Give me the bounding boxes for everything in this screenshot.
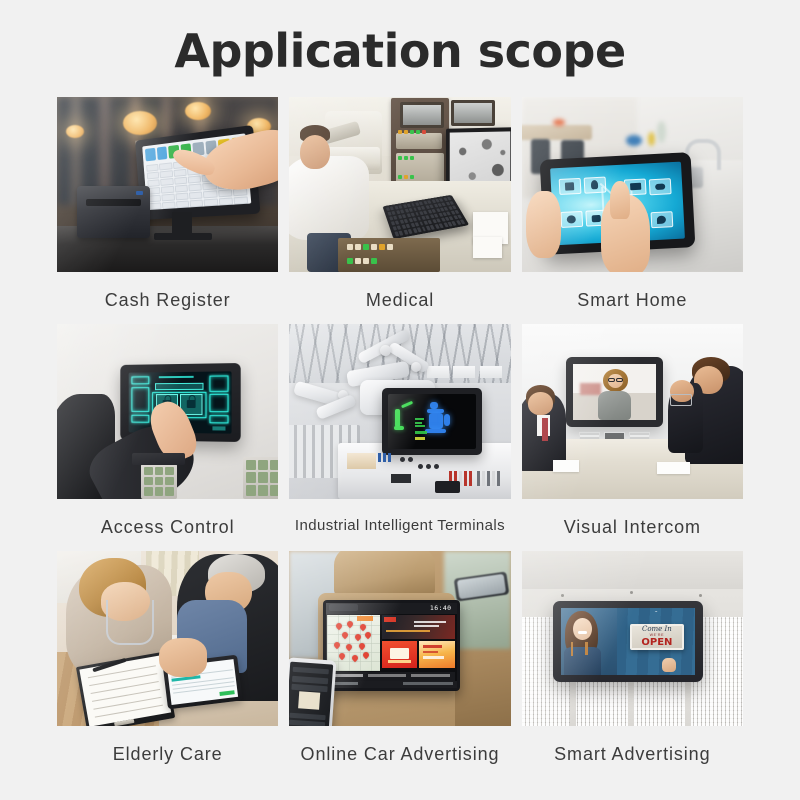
caption-elderly-care: Elderly Care [113,726,223,775]
caption-industrial: Industrial Intelligent Terminals [295,499,505,544]
sign-line-1: Come In [642,626,672,633]
elderly-care-image [57,551,278,726]
caption-cash-register: Cash Register [105,272,231,321]
application-scope-grid: Cash Register [57,97,743,775]
caption-online-car-advertising: Online Car Advertising [301,726,500,775]
shop-open-sign: Come In WE'RE OPEN [630,624,685,649]
scope-card-visual-intercom[interactable]: Visual Intercom [522,324,743,548]
cash-register-image [57,97,278,272]
medical-image [289,97,510,272]
smart-home-image [522,97,743,272]
sign-line-3: OPEN [641,638,672,648]
scope-card-elderly-care[interactable]: Elderly Care [57,551,278,775]
visual-intercom-image [522,324,743,499]
scope-card-access-control[interactable]: Access Control [57,324,278,548]
caption-visual-intercom: Visual Intercom [564,499,701,548]
access-control-image [57,324,278,499]
caption-access-control: Access Control [101,499,235,548]
smart-advertising-image: Come In WE'RE OPEN [522,551,743,726]
online-car-advertising-image: 16:40 [289,551,510,726]
industrial-image [289,324,510,499]
page-title: Application scope [0,0,800,77]
car-screen-clock: 16:40 [430,604,452,612]
scope-card-industrial[interactable]: Industrial Intelligent Terminals [289,324,510,548]
caption-smart-home: Smart Home [577,272,687,321]
scope-card-smart-home[interactable]: Smart Home [522,97,743,321]
caption-smart-advertising: Smart Advertising [554,726,710,775]
lightbulb-icon [583,176,606,193]
scope-card-smart-advertising[interactable]: Come In WE'RE OPEN Smart Advertising [522,551,743,775]
scope-card-cash-register[interactable]: Cash Register [57,97,278,321]
scope-card-online-car-advertising[interactable]: 16:40 [289,551,510,775]
gears-icon [648,178,671,195]
scope-card-medical[interactable]: Medical [289,97,510,321]
safe-icon [558,178,581,195]
water-drop-icon [650,211,673,228]
caption-medical: Medical [366,272,434,321]
washing-machine-icon [560,211,583,228]
